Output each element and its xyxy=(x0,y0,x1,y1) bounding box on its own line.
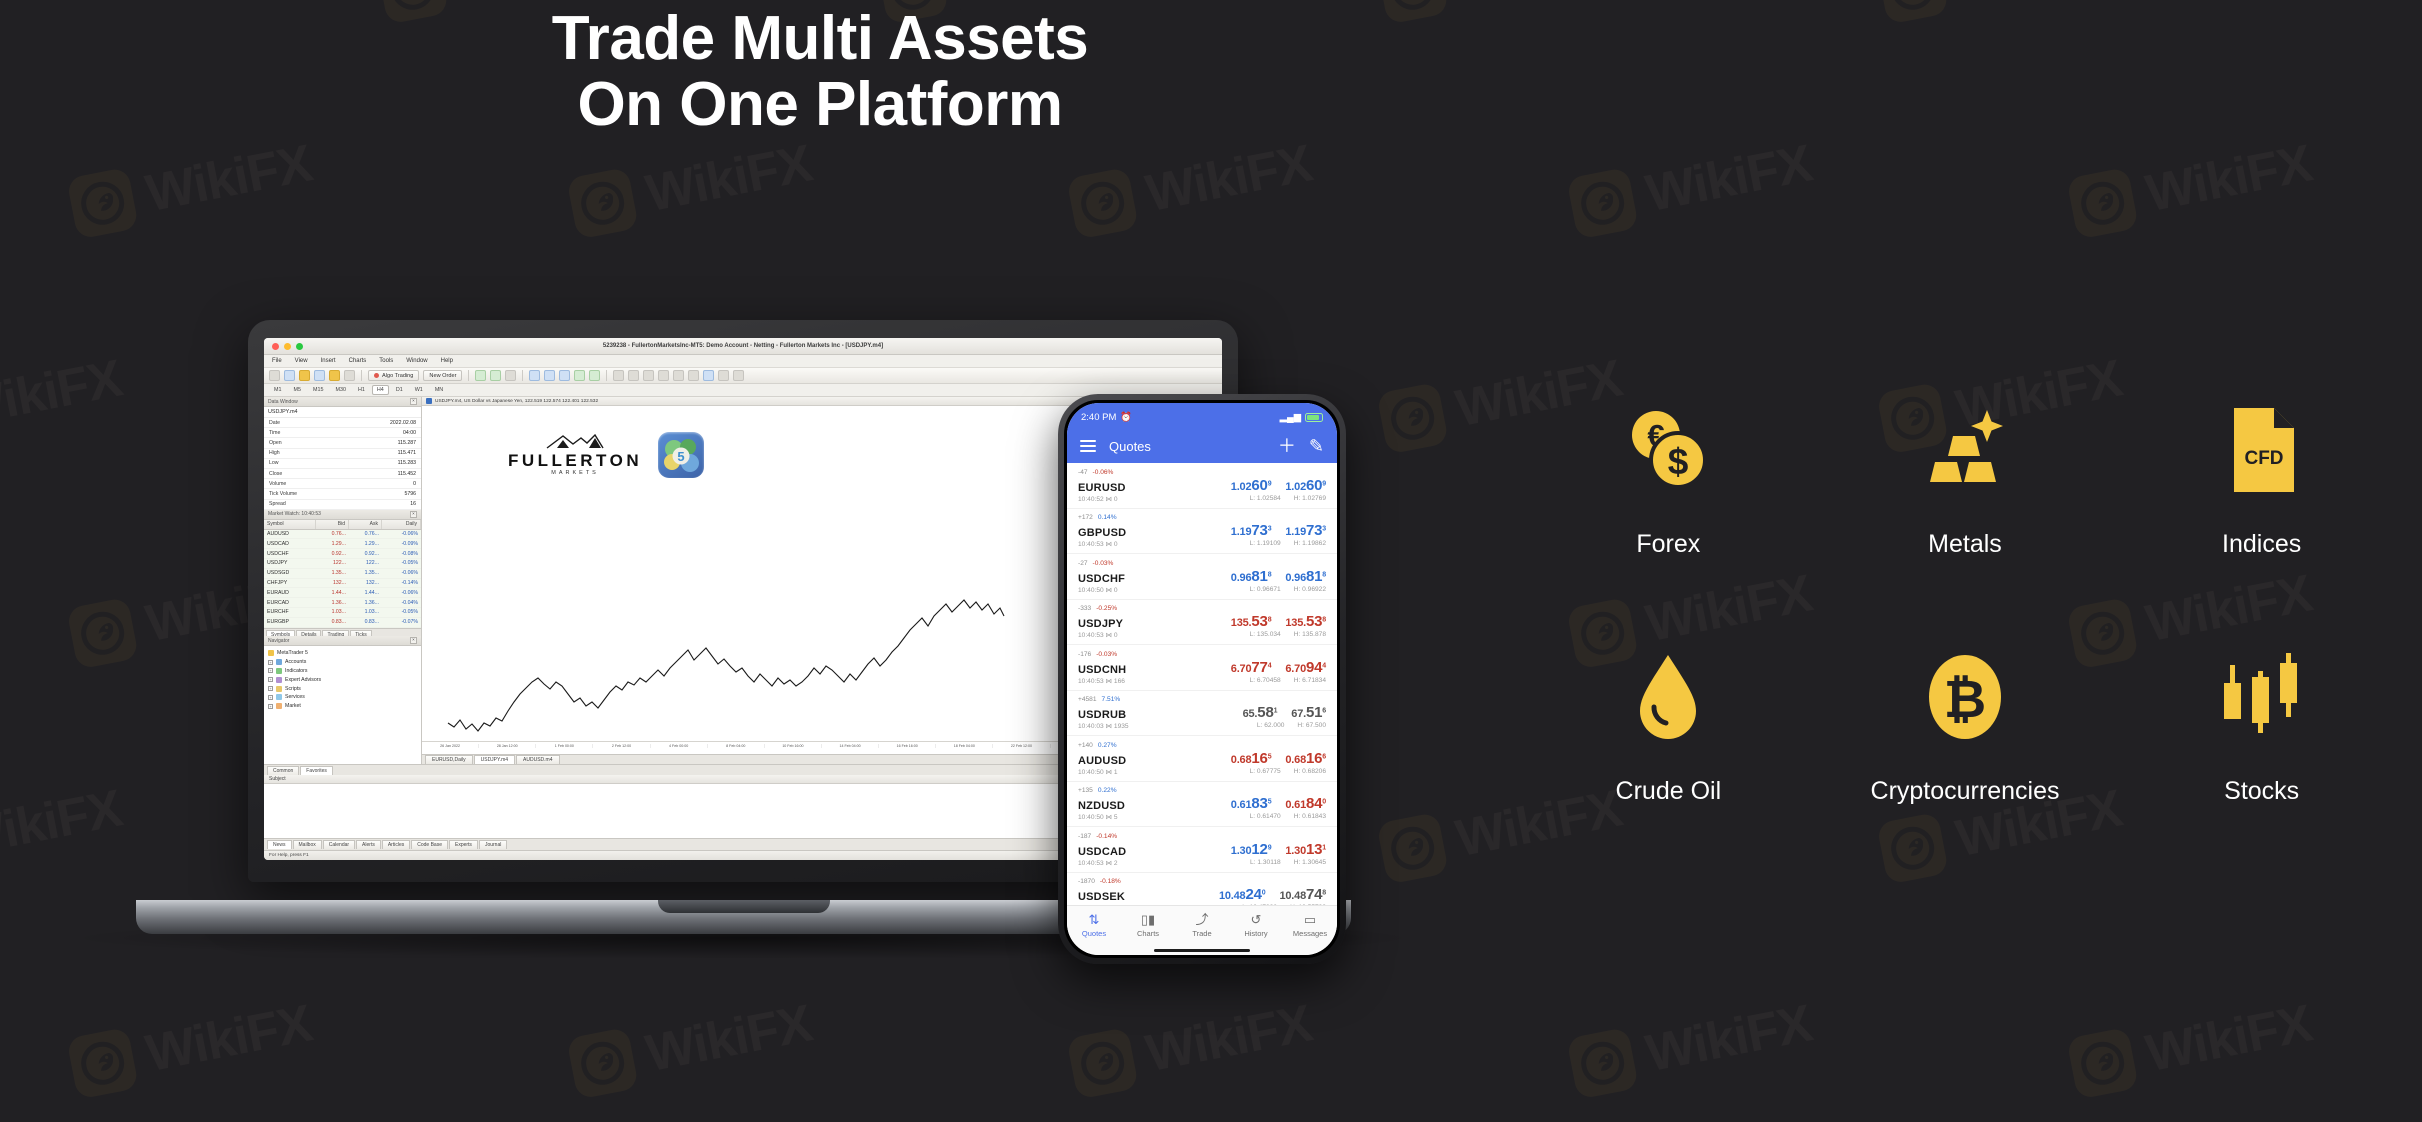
data-window-value: 5796 xyxy=(404,491,416,497)
quote-change: +45817.51% xyxy=(1078,696,1326,703)
quote-main: USDJPY135.538135.538 xyxy=(1078,613,1326,630)
status-help: For Help, press F1 xyxy=(269,853,309,858)
quote-ask-price: 0.68166 xyxy=(1285,750,1326,767)
navigator-item-metatrader-5[interactable]: MetaTrader 5 xyxy=(268,649,417,658)
navigator-item-label: Accounts xyxy=(285,659,306,665)
phone-tab-bar[interactable]: ⇅Quotes▯▮Charts⤴Trade↺History▭Messages xyxy=(1067,905,1337,945)
pencil-icon[interactable]: ✎ xyxy=(1309,437,1324,455)
watermark-text: WikiFX xyxy=(1951,0,2126,9)
asset-card-indices[interactable]: CFD Indices xyxy=(2113,398,2410,559)
table-row[interactable]: USDCAD1.29...1.29...-0.09% xyxy=(264,539,421,549)
market-watch-s: USDCHF xyxy=(264,549,316,558)
x-axis-tick: 8 Feb 04:00 xyxy=(708,744,765,748)
table-row[interactable]: EURCHF1.03...1.03...-0.05% xyxy=(264,608,421,618)
horizontal-line-icon[interactable] xyxy=(658,370,669,381)
templates-icon[interactable] xyxy=(613,370,624,381)
quote-high: H: 1.02769 xyxy=(1294,495,1326,503)
market-watch-panel-header: Market Watch: 10:40:53 × xyxy=(264,510,421,520)
quote-low: L: 1.19109 xyxy=(1250,540,1281,548)
battery-icon xyxy=(1305,413,1323,422)
mt5-left-panels: Data Window × USDJPY.m4 Date2022.02.08Ti… xyxy=(264,397,422,764)
navigator-tree[interactable]: MetaTrader 5+Accounts+Indicators+Expert … xyxy=(264,646,421,713)
x-axis-tick: 28 Jan 12:00 xyxy=(479,744,536,748)
crosshair-icon[interactable] xyxy=(628,370,639,381)
phone-screen-title: Quotes xyxy=(1109,439,1265,454)
watermark-text: WikiFX xyxy=(1641,993,1816,1084)
market-watch-chg: -0.05% xyxy=(382,608,421,617)
watermark-text: WikiFX xyxy=(0,348,126,439)
zoom-out-icon[interactable] xyxy=(544,370,555,381)
quote-change: +1720.14% xyxy=(1078,514,1326,521)
toolbar-separator-4 xyxy=(606,370,607,381)
watermark-text: WikiFX xyxy=(141,993,316,1084)
data-window-row: Close115.452 xyxy=(264,469,421,479)
phone-bezel: 2:40 PM ⏰ ▂▄▆ Quotes ＋ ✎ xyxy=(1064,400,1340,958)
data-window-key: Date xyxy=(269,420,280,426)
watermark-text: WikiFX xyxy=(1641,133,1816,224)
watermark: WikiFX xyxy=(66,992,316,1099)
asset-label: Stocks xyxy=(2224,777,2299,806)
market-watch-bid: 1.44... xyxy=(316,588,349,597)
table-row[interactable]: USDCHF0.92...0.92...-0.08% xyxy=(264,549,421,559)
quote-percent: -0.18% xyxy=(1100,878,1121,885)
navigator-node-icon xyxy=(276,668,282,674)
expand-icon[interactable]: + xyxy=(268,660,273,665)
status-time: 2:40 PM xyxy=(1081,412,1116,423)
quote-high-low: L: 0.96671H: 0.96922 xyxy=(1250,586,1326,594)
mt5-menu-bar[interactable]: FileViewInsertChartsToolsWindowHelp xyxy=(264,355,1222,368)
phone-tab-history[interactable]: ↺History xyxy=(1229,913,1283,938)
quote-symbol: AUDUSD xyxy=(1078,755,1126,767)
table-row[interactable]: EURAUD1.44...1.44...-0.06% xyxy=(264,588,421,598)
table-row[interactable]: CHFJPY132...132...-0.14% xyxy=(264,579,421,589)
expand-icon[interactable]: + xyxy=(268,704,273,709)
toolbox-icon[interactable] xyxy=(344,370,355,381)
watermark: WikiFX xyxy=(0,347,127,454)
market-watch-column-daily[interactable]: Daily xyxy=(382,520,421,529)
quote-bid-price: 0.68165 xyxy=(1231,750,1272,767)
watermark: WikiFX xyxy=(1066,132,1316,239)
navigator-item-scripts[interactable]: +Scripts xyxy=(268,684,417,693)
quote-bid-price: 1.19733 xyxy=(1231,522,1272,539)
wikifx-eagle-logo xyxy=(1876,812,1949,885)
x-axis-tick: 18 Feb 04:00 xyxy=(936,744,993,748)
timeframe-m5[interactable]: M5 xyxy=(289,385,307,395)
table-row[interactable]: USDJPY122...122...-0.05% xyxy=(264,559,421,569)
algo-status-led xyxy=(374,373,379,378)
navigator-item-market[interactable]: +Market xyxy=(268,702,417,711)
phone-mockup: 2:40 PM ⏰ ▂▄▆ Quotes ＋ ✎ xyxy=(1058,394,1346,964)
market-watch-bid: 0.76... xyxy=(316,530,349,539)
fullerton-branding: FULLERTON MARKETS xyxy=(508,432,704,478)
watermark: WikiFX xyxy=(1876,0,2126,25)
quote-change: -47-0.06% xyxy=(1078,469,1326,476)
close-icon[interactable]: × xyxy=(410,511,417,518)
data-window-value: 0 xyxy=(413,481,416,487)
wikifx-eagle-logo xyxy=(566,167,639,240)
asset-card-stocks[interactable]: Stocks xyxy=(2113,645,2410,806)
toolbox-tab-journal[interactable]: Journal xyxy=(479,840,507,849)
data-window-row: Low115.283 xyxy=(264,459,421,469)
plus-icon[interactable]: ＋ xyxy=(1278,437,1296,455)
fullerton-wordmark: FULLERTON xyxy=(508,451,642,471)
quote-meta: 10:40:47 ⋈ 500L: 10.47930H: 10.55793 xyxy=(1078,904,1326,905)
quote-prices: 0.618350.61840 xyxy=(1231,795,1326,812)
data-window-row: Tick Volume5796 xyxy=(264,489,421,499)
market-watch-bid: 0.92... xyxy=(316,549,349,558)
watermark-text: WikiFX xyxy=(1141,133,1316,224)
quote-ask-price: 1.02609 xyxy=(1285,477,1326,494)
trendline-icon[interactable] xyxy=(673,370,684,381)
watermark-text: WikiFX xyxy=(1141,993,1316,1084)
data-window-title: Data Window xyxy=(268,399,298,405)
toolbox-tab-mailbox[interactable]: Mailbox xyxy=(293,840,322,849)
market-watch-icon[interactable] xyxy=(299,370,310,381)
phone-tab-trade[interactable]: ⤴Trade xyxy=(1175,913,1229,938)
watermark-text: WikiFX xyxy=(0,778,126,869)
phone-tab-charts[interactable]: ▯▮Charts xyxy=(1121,913,1175,938)
navigator-item-accounts[interactable]: +Accounts xyxy=(268,658,417,667)
new-order-button[interactable]: New Order xyxy=(423,370,462,381)
asset-card-forex[interactable]: € $ Forex xyxy=(1520,398,1817,559)
page-title: Trade Multi Assets On One Platform xyxy=(0,6,1640,137)
navigator-icon[interactable] xyxy=(329,370,340,381)
navigator-item-expert-advisors[interactable]: +Expert Advisors xyxy=(268,675,417,684)
close-icon[interactable]: × xyxy=(410,637,417,644)
asset-label: Metals xyxy=(1928,530,2002,559)
alarm-icon: ⏰ xyxy=(1120,412,1132,423)
quote-bid-price: 1.02609 xyxy=(1231,477,1272,494)
x-axis-tick: 26 Jan 2022 xyxy=(422,744,479,748)
menu-item-file[interactable]: File xyxy=(272,358,282,364)
quote-low: L: 10.47930 xyxy=(1242,904,1277,905)
quote-symbol: NZDUSD xyxy=(1078,800,1125,812)
headline-line-2: On One Platform xyxy=(0,72,1640,138)
navigator-node-icon xyxy=(276,694,282,700)
quote-main: USDRUB65.58167.516 xyxy=(1078,704,1326,721)
phone-tab-label: History xyxy=(1244,929,1267,938)
quote-change: -187-0.14% xyxy=(1078,833,1326,840)
wikifx-eagle-logo xyxy=(1566,167,1639,240)
chart-tab-eurusd-daily[interactable]: EURUSD,Daily xyxy=(425,755,473,764)
quote-high-low: L: 0.67775H: 0.68206 xyxy=(1250,768,1326,776)
navigator-item-label: Scripts xyxy=(285,686,301,692)
table-row[interactable]: AUDUSD0.76...0.76...-0.06% xyxy=(264,530,421,540)
navigator-item-label: MetaTrader 5 xyxy=(277,650,308,656)
timeframe-mn[interactable]: MN xyxy=(430,385,448,395)
data-window-row: Spread16 xyxy=(264,500,421,510)
quote-points: +140 xyxy=(1078,742,1093,749)
quote-change: +1400.27% xyxy=(1078,742,1326,749)
quote-row[interactable]: +45817.51%USDRUB65.58167.51610:40:03 ⋈ 1… xyxy=(1067,691,1337,737)
quote-high-low: L: 6.70458H: 6.71834 xyxy=(1250,677,1326,685)
quote-row[interactable]: +1350.22%NZDUSD0.618350.6184010:40:50 ⋈ … xyxy=(1067,782,1337,828)
quote-main: GBPUSD1.197331.19733 xyxy=(1078,522,1326,539)
menu-item-charts[interactable]: Charts xyxy=(349,358,367,364)
candlestick-series xyxy=(446,590,1006,740)
auto-scroll-icon[interactable] xyxy=(559,370,570,381)
quote-high: H: 6.71834 xyxy=(1294,677,1326,685)
quote-main: AUDUSD0.681650.68166 xyxy=(1078,750,1326,767)
quote-time-spread: 10:40:50 ⋈ 5 xyxy=(1078,813,1118,821)
menu-item-window[interactable]: Window xyxy=(406,358,427,364)
new-chart-icon[interactable] xyxy=(269,370,280,381)
wikifx-eagle-logo xyxy=(2066,1027,2139,1100)
quote-main: NZDUSD0.618350.61840 xyxy=(1078,795,1326,812)
zoom-in-icon[interactable] xyxy=(529,370,540,381)
watermark: WikiFX xyxy=(1066,992,1316,1099)
quote-high: H: 0.68206 xyxy=(1294,768,1326,776)
quote-percent: 7.51% xyxy=(1102,696,1121,703)
chart-shift-icon[interactable] xyxy=(574,370,585,381)
quote-row[interactable]: -27-0.03%USDCHF0.968180.9681810:40:50 ⋈ … xyxy=(1067,554,1337,600)
table-row[interactable]: EURCAD1.36...1.36...-0.04% xyxy=(264,598,421,608)
navigator-node-icon xyxy=(276,659,282,665)
market-watch-chg: -0.06% xyxy=(382,569,421,578)
indicators-icon[interactable] xyxy=(589,370,600,381)
data-window-symbol: USDJPY.m4 xyxy=(264,407,421,418)
toolbox-tab-code-base[interactable]: Code Base xyxy=(411,840,448,849)
quote-main: USDCHF0.968180.96818 xyxy=(1078,568,1326,585)
market-watch-chg: -0.04% xyxy=(382,598,421,607)
quote-ask-price: 0.96818 xyxy=(1285,568,1326,585)
line-chart-icon[interactable] xyxy=(505,370,516,381)
data-window-value: 115.452 xyxy=(398,471,416,477)
expand-icon[interactable]: + xyxy=(268,677,273,682)
new-order-label: New Order xyxy=(429,373,456,379)
quote-meta: 10:40:53 ⋈ 166L: 6.70458H: 6.71834 xyxy=(1078,677,1326,685)
quote-time-spread: 10:40:03 ⋈ 1935 xyxy=(1078,722,1129,730)
svg-text:CFD: CFD xyxy=(2244,448,2283,469)
quote-row[interactable]: +1720.14%GBPUSD1.197331.1973310:40:53 ⋈ … xyxy=(1067,509,1337,555)
quote-points: -47 xyxy=(1078,469,1088,476)
fibonacci-icon[interactable] xyxy=(703,370,714,381)
menu-item-help[interactable]: Help xyxy=(441,358,453,364)
asset-card-cryptocurrencies[interactable]: ₿ Cryptocurrencies xyxy=(1817,645,2114,806)
quote-symbol: USDJPY xyxy=(1078,618,1123,630)
quote-high-low: L: 135.034H: 135.878 xyxy=(1250,631,1326,639)
algo-trading-button[interactable]: Algo Trading xyxy=(368,370,419,381)
quote-high: H: 1.19862 xyxy=(1294,540,1326,548)
quote-high-low: L: 10.47930H: 10.55793 xyxy=(1242,904,1326,905)
timeframe-d1[interactable]: D1 xyxy=(391,385,408,395)
quote-row[interactable]: -333-0.25%USDJPY135.538135.53810:40:53 ⋈… xyxy=(1067,600,1337,646)
mt5-toolbar[interactable]: Algo Trading New Order xyxy=(264,368,1222,384)
quote-low: L: 0.96671 xyxy=(1250,586,1281,594)
channel-icon[interactable] xyxy=(688,370,699,381)
quote-time-spread: 10:40:53 ⋈ 2 xyxy=(1078,859,1118,867)
chart-tab-audusd-m4[interactable]: AUDUSD.m4 xyxy=(516,755,559,764)
quote-symbol: USDCNH xyxy=(1078,664,1126,676)
market-watch-column-symbol[interactable]: Symbol xyxy=(264,520,316,529)
toolbox-tab-calendar[interactable]: Calendar xyxy=(323,840,355,849)
quote-low: L: 62.000 xyxy=(1257,722,1285,730)
toolbox-tab-news[interactable]: News xyxy=(267,840,292,849)
close-icon[interactable]: × xyxy=(410,398,417,405)
quote-time-spread: 10:40:53 ⋈ 166 xyxy=(1078,677,1125,685)
watermark: WikiFX xyxy=(2066,132,2316,239)
quote-percent: -0.14% xyxy=(1096,833,1117,840)
market-watch-columns[interactable]: SymbolBidAskDaily xyxy=(264,520,421,530)
menu-item-tools[interactable]: Tools xyxy=(379,358,393,364)
asset-card-crude-oil[interactable]: Crude Oil xyxy=(1520,645,1817,806)
quote-row[interactable]: -187-0.14%USDCAD1.301291.3013110:40:53 ⋈… xyxy=(1067,827,1337,873)
data-window-panel-header: Data Window × xyxy=(264,397,421,407)
label-tool-icon[interactable] xyxy=(733,370,744,381)
expand-icon[interactable]: + xyxy=(268,695,273,700)
wikifx-eagle-logo xyxy=(1066,167,1139,240)
market-watch-s: EURCAD xyxy=(264,598,316,607)
candlestick-chart-icon[interactable] xyxy=(490,370,501,381)
quote-symbol: USDRUB xyxy=(1078,709,1126,721)
market-watch-ask: 0.83... xyxy=(349,618,382,627)
quote-row[interactable]: -1870-0.18%USDSEK10.4824010.4874810:40:4… xyxy=(1067,873,1337,906)
data-window-key: Open xyxy=(269,440,282,446)
profiles-icon[interactable] xyxy=(284,370,295,381)
data-window-row: Date2022.02.08 xyxy=(264,418,421,428)
data-window-rows: Date2022.02.08Time04:00Open115.287High11… xyxy=(264,418,421,510)
toolbox-tab-alerts[interactable]: Alerts xyxy=(356,840,381,849)
quote-symbol: USDSEK xyxy=(1078,891,1125,903)
phone-tab-label: Trade xyxy=(1192,929,1211,938)
toolbox-tab-experts[interactable]: Experts xyxy=(449,840,478,849)
watermark-text: WikiFX xyxy=(641,133,816,224)
data-window-icon[interactable] xyxy=(314,370,325,381)
timeframe-m30[interactable]: M30 xyxy=(331,385,352,395)
home-indicator xyxy=(1067,945,1337,955)
market-watch-s: CHFJPY xyxy=(264,579,316,588)
market-watch-s: USDJPY xyxy=(264,559,316,568)
timeframe-m1[interactable]: M1 xyxy=(269,385,287,395)
window-title: 5239238 - FullertonMarketsInc-MT5: Demo … xyxy=(264,343,1222,349)
asset-label: Forex xyxy=(1636,530,1700,559)
hamburger-icon[interactable] xyxy=(1080,440,1096,452)
timeframe-h4[interactable]: H4 xyxy=(372,385,389,395)
table-row[interactable]: EURGBP0.83...0.83...-0.07% xyxy=(264,618,421,628)
metatrader5-app-icon: 5 xyxy=(658,432,704,478)
expand-icon[interactable]: + xyxy=(268,668,273,673)
quote-ask-price: 6.70944 xyxy=(1285,659,1326,676)
quote-row[interactable]: +1400.27%AUDUSD0.681650.6816610:40:50 ⋈ … xyxy=(1067,736,1337,782)
signal-icon: ▂▄▆ xyxy=(1280,412,1301,423)
quote-prices: 1.197331.19733 xyxy=(1231,522,1326,539)
timeframe-h1[interactable]: H1 xyxy=(353,385,370,395)
market-watch-bid: 1.29... xyxy=(316,539,349,548)
asset-card-metals[interactable]: Metals xyxy=(1817,398,2114,559)
quote-high: H: 67.500 xyxy=(1297,722,1326,730)
mailbox-tab-favorites[interactable]: Favorites xyxy=(300,766,333,775)
x-axis-tick: 2 Feb 12:00 xyxy=(593,744,650,748)
watermark: WikiFX xyxy=(1566,992,1816,1099)
chart-symbol-icon xyxy=(426,398,432,404)
quotes-list[interactable]: -47-0.06%EURUSD1.026091.0260910:40:52 ⋈ … xyxy=(1067,463,1337,905)
timeframe-w1[interactable]: W1 xyxy=(410,385,428,395)
market-watch-rows[interactable]: AUDUSD0.76...0.76...-0.06%USDCAD1.29...1… xyxy=(264,530,421,628)
phone-tab-messages[interactable]: ▭Messages xyxy=(1283,913,1337,938)
quote-ask-price: 67.516 xyxy=(1291,704,1326,721)
quote-bid-price: 1.30129 xyxy=(1231,841,1272,858)
fullerton-logo: FULLERTON MARKETS xyxy=(508,434,642,477)
data-window-value: 16 xyxy=(410,501,416,507)
phone-tab-label: Quotes xyxy=(1082,929,1106,938)
menu-item-view[interactable]: View xyxy=(295,358,308,364)
market-watch-s: EURAUD xyxy=(264,588,316,597)
quote-prices: 135.538135.538 xyxy=(1231,613,1326,630)
market-watch-column-ask[interactable]: Ask xyxy=(349,520,382,529)
navigator-item-indicators[interactable]: +Indicators xyxy=(268,667,417,676)
text-tool-icon[interactable] xyxy=(718,370,729,381)
chat-bubbles-icon: ▭ xyxy=(1283,913,1337,927)
quote-prices: 6.707746.70944 xyxy=(1231,659,1326,676)
mailbox-tab-common[interactable]: Common xyxy=(267,766,299,775)
quote-points: -176 xyxy=(1078,651,1091,658)
timeframe-m15[interactable]: M15 xyxy=(308,385,329,395)
market-watch-ask: 1.44... xyxy=(349,588,382,597)
quote-high: H: 0.61843 xyxy=(1294,813,1326,821)
quote-low: L: 0.61470 xyxy=(1250,813,1281,821)
market-watch-chg: -0.06% xyxy=(382,530,421,539)
quote-bid-price: 0.61835 xyxy=(1231,795,1272,812)
quote-row[interactable]: -176-0.03%USDCNH6.707746.7094410:40:53 ⋈… xyxy=(1067,645,1337,691)
quote-points: +4581 xyxy=(1078,696,1097,703)
navigator-item-services[interactable]: +Services xyxy=(268,693,417,702)
expand-icon[interactable]: + xyxy=(268,686,273,691)
quote-meta: 10:40:50 ⋈ 5L: 0.61470H: 0.61843 xyxy=(1078,813,1326,821)
market-watch-column-bid[interactable]: Bid xyxy=(316,520,349,529)
quote-high-low: L: 1.19109H: 1.19862 xyxy=(1250,540,1326,548)
vertical-line-icon[interactable] xyxy=(643,370,654,381)
watermark-text: WikiFX xyxy=(641,993,816,1084)
quote-points: -187 xyxy=(1078,833,1091,840)
market-watch-s: USDCAD xyxy=(264,539,316,548)
quote-change: +1350.22% xyxy=(1078,787,1326,794)
trendline-icon: ⤴ xyxy=(1175,913,1229,927)
quote-ask-price: 1.30131 xyxy=(1285,841,1326,858)
quote-main: USDCNH6.707746.70944 xyxy=(1078,659,1326,676)
data-window-row: Volume0 xyxy=(264,479,421,489)
table-row[interactable]: USDSGD1.35...1.35...-0.06% xyxy=(264,569,421,579)
cfd-document-icon: CFD xyxy=(2214,398,2310,502)
phone-screen: 2:40 PM ⏰ ▂▄▆ Quotes ＋ ✎ xyxy=(1067,403,1337,955)
quote-bid-price: 65.581 xyxy=(1243,704,1278,721)
quote-percent: 0.27% xyxy=(1098,742,1117,749)
chart-tab-usdjpy-m4[interactable]: USDJPY.m4 xyxy=(474,755,515,764)
quote-meta: 10:40:03 ⋈ 1935L: 62.000H: 67.500 xyxy=(1078,722,1326,730)
quote-meta: 10:40:53 ⋈ 0L: 1.19109H: 1.19862 xyxy=(1078,540,1326,548)
quote-points: +172 xyxy=(1078,514,1093,521)
bar-chart-icon[interactable] xyxy=(475,370,486,381)
navigator-node-icon xyxy=(276,677,282,683)
market-watch-ask: 1.29... xyxy=(349,539,382,548)
quote-points: +135 xyxy=(1078,787,1093,794)
menu-item-insert[interactable]: Insert xyxy=(321,358,336,364)
x-axis-tick: 16 Feb 16:00 xyxy=(879,744,936,748)
quote-main: USDCAD1.301291.30131 xyxy=(1078,841,1326,858)
quote-time-spread: 10:40:50 ⋈ 0 xyxy=(1078,586,1118,594)
quote-high-low: L: 62.000H: 67.500 xyxy=(1257,722,1326,730)
watermark-text: WikiFX xyxy=(141,133,316,224)
quote-meta: 10:40:52 ⋈ 0L: 1.02584H: 1.02769 xyxy=(1078,495,1326,503)
quote-prices: 10.4824010.48748 xyxy=(1219,886,1326,903)
market-watch-ask: 132... xyxy=(349,579,382,588)
quote-row[interactable]: -47-0.06%EURUSD1.026091.0260910:40:52 ⋈ … xyxy=(1067,463,1337,509)
quote-main: EURUSD1.026091.02609 xyxy=(1078,477,1326,494)
phone-tab-quotes[interactable]: ⇅Quotes xyxy=(1067,913,1121,938)
toolbox-tab-articles[interactable]: Articles xyxy=(382,840,410,849)
data-window-key: Time xyxy=(269,430,280,436)
phone-status-bar: 2:40 PM ⏰ ▂▄▆ xyxy=(1067,403,1337,429)
wikifx-eagle-logo xyxy=(1566,1027,1639,1100)
